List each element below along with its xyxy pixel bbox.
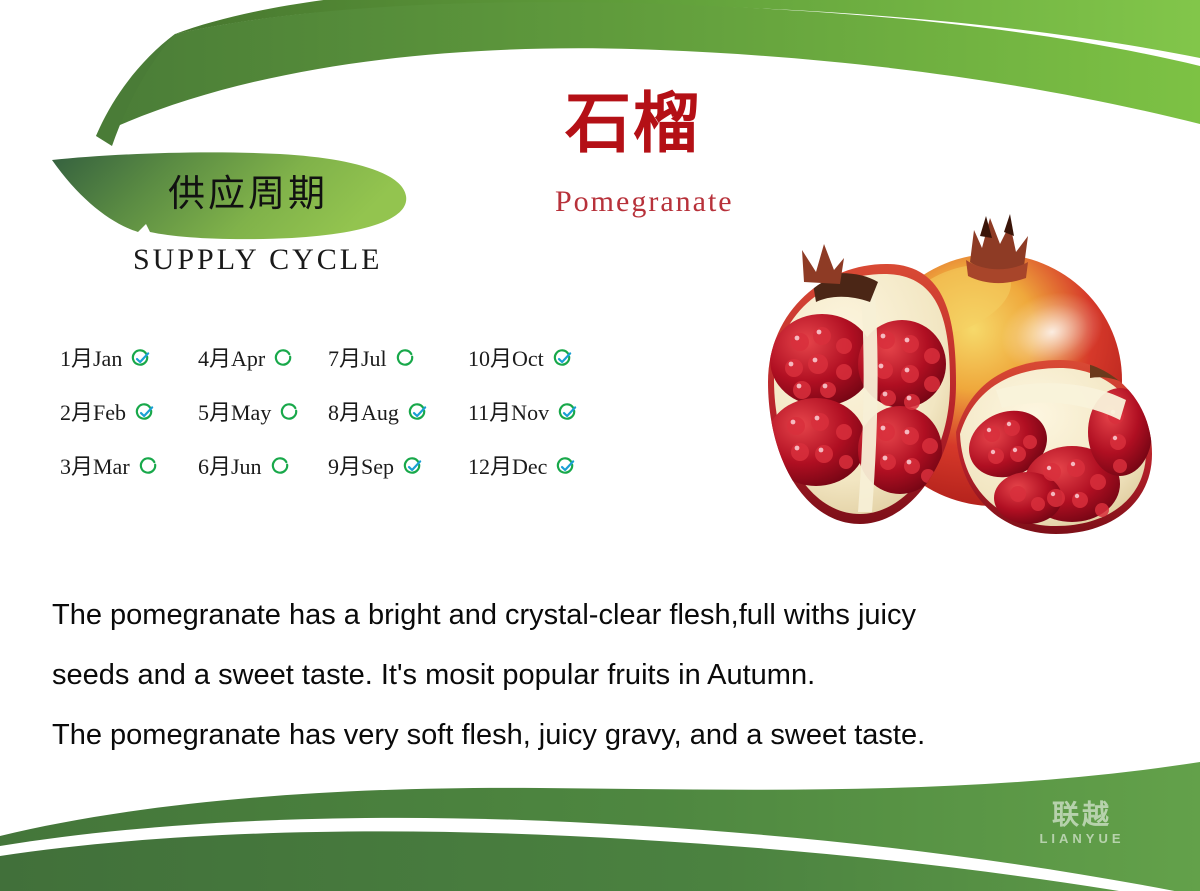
month-label: 10月Oct (468, 348, 544, 370)
month-cell: 10月Oct (468, 348, 618, 370)
check-circle-icon (558, 403, 578, 423)
supply-cycle-month-grid: 1月Jan4月Apr7月Jul10月Oct2月Feb5月May8月Aug11月N… (60, 332, 620, 494)
check-circle-icon (131, 349, 151, 369)
month-label: 6月Jun (198, 456, 262, 478)
product-description: The pomegranate has a bright and crystal… (52, 585, 1162, 765)
month-label: 9月Sep (328, 456, 394, 478)
description-line-1: The pomegranate has a bright and crystal… (52, 585, 1162, 645)
month-cell: 6月Jun (198, 456, 328, 478)
supply-cycle-title-cn: 供应周期 (168, 163, 328, 217)
check-circle-icon (556, 457, 576, 477)
month-cell: 11月Nov (468, 402, 618, 424)
check-circle-icon (135, 403, 155, 423)
pomegranate-photo (760, 132, 1180, 552)
month-cell: 12月Dec (468, 456, 618, 478)
month-cell: 1月Jan (60, 348, 198, 370)
month-label: 11月Nov (468, 402, 549, 424)
month-cell: 4月Apr (198, 348, 328, 370)
month-cell: 8月Aug (328, 402, 468, 424)
check-circle-icon (553, 349, 573, 369)
check-circle-icon (403, 457, 423, 477)
arc-circle-icon (274, 349, 294, 369)
description-line-3: The pomegranate has very soft flesh, jui… (52, 705, 1162, 765)
pomegranate-illustration (760, 132, 1180, 552)
watermark-cn: 联越 (1012, 800, 1152, 830)
product-title-cn: 石榴 (565, 92, 701, 158)
month-label: 4月Apr (198, 348, 265, 370)
watermark-logo: 联越 LIANYUE (1012, 800, 1152, 862)
arc-circle-icon (271, 457, 291, 477)
supply-cycle-leaf-badge: 供应周期 (50, 148, 420, 248)
description-line-2: seeds and a sweet taste. It's mosit popu… (52, 645, 1162, 705)
month-label: 12月Dec (468, 456, 547, 478)
slide-root: 供应周期 SUPPLY CYCLE 1月Jan4月Apr7月Jul10月Oct2… (0, 0, 1200, 891)
watermark-en: LIANYUE (1012, 830, 1152, 848)
check-circle-icon (408, 403, 428, 423)
month-cell: 2月Feb (60, 402, 198, 424)
month-cell: 5月May (198, 402, 328, 424)
month-label: 3月Mar (60, 456, 130, 478)
arc-circle-icon (396, 349, 416, 369)
arc-circle-icon (139, 457, 159, 477)
month-cell: 3月Mar (60, 456, 198, 478)
month-cell: 9月Sep (328, 456, 468, 478)
product-title-en: Pomegranate (555, 185, 734, 219)
month-label: 7月Jul (328, 348, 387, 370)
supply-cycle-title-en: SUPPLY CYCLE (133, 243, 382, 277)
month-label: 8月Aug (328, 402, 399, 424)
month-cell: 7月Jul (328, 348, 468, 370)
month-label: 1月Jan (60, 348, 122, 370)
arc-circle-icon (280, 403, 300, 423)
month-label: 2月Feb (60, 402, 126, 424)
month-label: 5月May (198, 402, 271, 424)
